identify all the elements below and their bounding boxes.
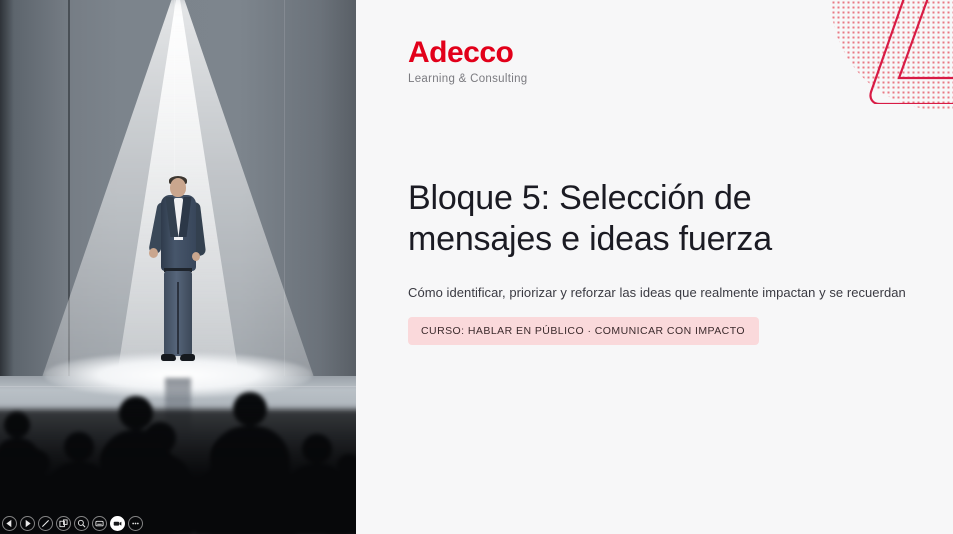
video-camera-icon[interactable] — [110, 516, 125, 531]
slide-title: Bloque 5: Selección de mensajes e ideas … — [408, 178, 808, 260]
slide-player-toolbar[interactable] — [2, 516, 143, 531]
logo-wordmark: Adecco — [408, 38, 527, 68]
stage-photo — [0, 0, 356, 534]
previous-slide-button[interactable] — [2, 516, 17, 531]
slides-overview-button[interactable] — [56, 516, 71, 531]
ellipsis-icon[interactable] — [128, 516, 143, 531]
pen-icon[interactable] — [38, 516, 53, 531]
audience-silhouettes — [0, 359, 356, 534]
speaker-figure — [148, 178, 208, 383]
adecco-logo: Adecco Learning & Consulting — [408, 38, 527, 85]
presentation-slide: Adecco Learning & Consulting Bloque 5: S… — [0, 0, 953, 534]
course-badge: CURSO: HABLAR EN PÚBLICO · COMUNICAR CON… — [408, 317, 759, 345]
slide-content: Adecco Learning & Consulting Bloque 5: S… — [356, 0, 953, 534]
play-button[interactable] — [20, 516, 35, 531]
slide-subtitle: Cómo identificar, priorizar y reforzar l… — [408, 285, 913, 300]
headline-block: Bloque 5: Selección de mensajes e ideas … — [408, 178, 913, 345]
logo-tagline: Learning & Consulting — [408, 73, 527, 85]
adecco-a-mark-icon — [833, 0, 953, 104]
captions-icon[interactable] — [92, 516, 107, 531]
magnifier-icon[interactable] — [74, 516, 89, 531]
